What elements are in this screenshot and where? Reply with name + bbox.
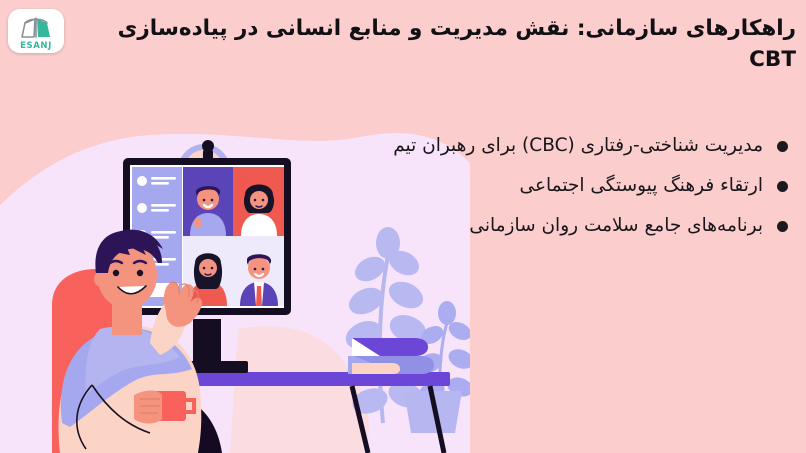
bullet-list: مدیریت شناختی-رفتاری (CBC) برای رهبران ت… [248, 132, 788, 252]
logo-wordmark: ESANJ [20, 42, 52, 51]
list-item: مدیریت شناختی-رفتاری (CBC) برای رهبران ت… [248, 132, 788, 160]
bullet-dot-icon [777, 221, 788, 232]
call-tile-1 [183, 167, 233, 236]
page-title: راهکارهای سازمانی: نقش مدیریت و منابع ان… [72, 14, 796, 75]
bullet-dot-icon [777, 141, 788, 152]
open-book-icon [16, 12, 56, 44]
list-item: ارتقاء فرهنگ پیوستگی اجتماعی [248, 172, 788, 200]
slide-canvas: ESANJ راهکارهای سازمانی: نقش مدیریت و من… [0, 0, 806, 453]
webcam [202, 140, 214, 159]
list-item-label: ارتقاء فرهنگ پیوستگی اجتماعی [520, 172, 763, 200]
bullet-dot-icon [777, 181, 788, 192]
list-item: برنامه‌های جامع سلامت روان سازمانی [248, 212, 788, 240]
list-item-label: برنامه‌های جامع سلامت روان سازمانی [469, 212, 763, 240]
list-item-label: مدیریت شناختی-رفتاری (CBC) برای رهبران ت… [393, 132, 763, 160]
esanj-logo[interactable]: ESANJ [8, 9, 64, 53]
